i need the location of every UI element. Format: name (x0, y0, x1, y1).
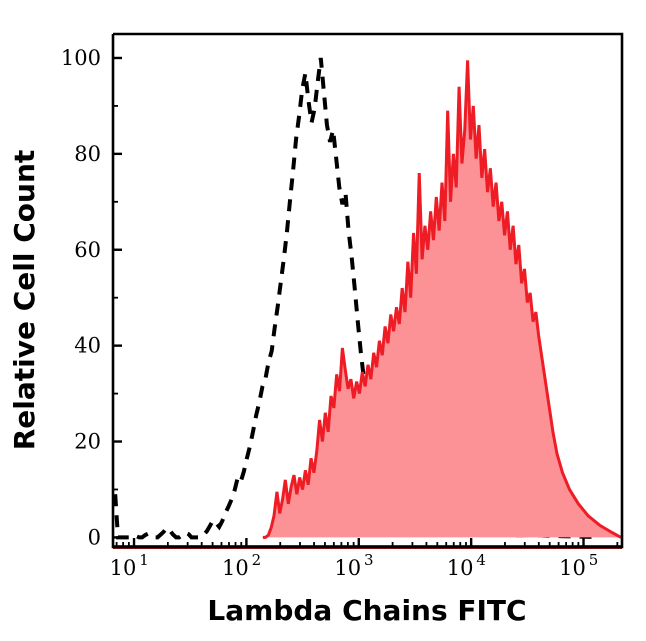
x-tick-mantissa: 10 (559, 556, 586, 580)
x-axis-title: Lambda Chains FITC (207, 594, 526, 627)
y-tick-label: 60 (74, 238, 101, 262)
y-tick-label: 100 (61, 46, 101, 70)
x-tick-mantissa: 10 (334, 556, 361, 580)
x-tick-mantissa: 10 (447, 556, 474, 580)
y-tick-label: 0 (88, 525, 101, 549)
y-tick-label: 40 (74, 334, 101, 358)
flow-cytometry-figure: 020406080100101102103104105 Lambda Chain… (0, 0, 646, 641)
x-tick-exponent: 5 (589, 551, 599, 569)
y-tick-label: 80 (74, 142, 101, 166)
x-tick-mantissa: 10 (222, 556, 249, 580)
x-tick-exponent: 4 (476, 551, 486, 569)
x-tick-mantissa: 10 (110, 556, 137, 580)
y-tick-label: 20 (74, 430, 101, 454)
histogram-plot: 020406080100101102103104105 Lambda Chain… (0, 0, 646, 641)
x-tick-exponent: 1 (139, 551, 149, 569)
x-tick-exponent: 3 (364, 551, 374, 569)
y-axis-title: Relative Cell Count (8, 150, 41, 451)
x-tick-exponent: 2 (252, 551, 262, 569)
